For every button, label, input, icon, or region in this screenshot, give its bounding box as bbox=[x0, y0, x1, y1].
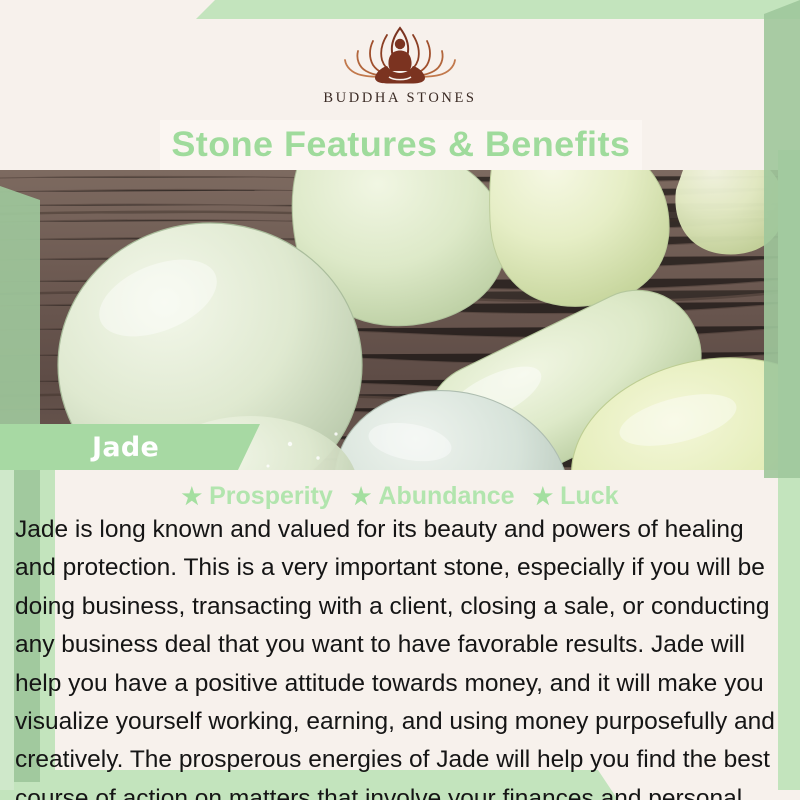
decor-top-green-band bbox=[0, 0, 800, 19]
benefit-label: Prosperity bbox=[209, 482, 333, 511]
benefit-item-luck: ★ Luck bbox=[533, 482, 619, 511]
benefit-label: Luck bbox=[560, 482, 618, 511]
stone-name-badge: Jade bbox=[0, 424, 260, 470]
brand-logo: BUDDHA STONES bbox=[0, 22, 800, 118]
stone-description: Jade is long known and valued for its be… bbox=[15, 511, 790, 800]
benefits-row: ★ Prosperity ★ Abundance ★ Luck bbox=[0, 479, 800, 513]
lotus-meditation-icon bbox=[325, 22, 475, 88]
decor-left-edge-strip bbox=[0, 470, 14, 790]
benefit-item-prosperity: ★ Prosperity bbox=[181, 482, 332, 511]
star-icon: ★ bbox=[533, 485, 554, 508]
benefit-item-abundance: ★ Abundance bbox=[351, 482, 515, 511]
star-icon: ★ bbox=[351, 485, 372, 508]
stone-name-label: Jade bbox=[92, 432, 159, 463]
star-icon: ★ bbox=[181, 485, 202, 508]
brand-name: BUDDHA STONES bbox=[323, 90, 476, 107]
poster-root: BUDDHA STONES Stone Features & Benefits bbox=[0, 0, 800, 800]
title-band: Stone Features & Benefits bbox=[160, 120, 642, 170]
page-title: Stone Features & Benefits bbox=[171, 125, 630, 165]
benefit-label: Abundance bbox=[378, 482, 514, 511]
